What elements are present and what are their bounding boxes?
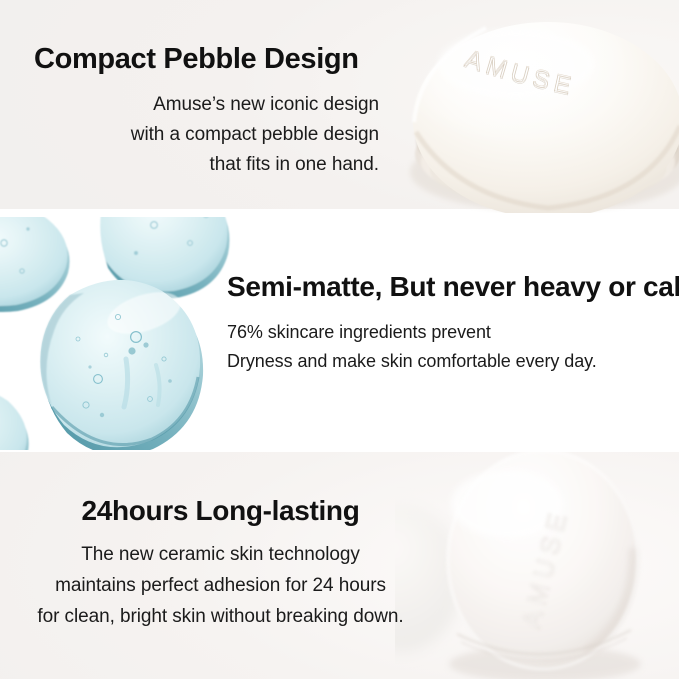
panel-3-body-line: maintains perfect adhesion for 24 hours — [8, 571, 433, 602]
aqua-gel-droplets-photo — [0, 217, 244, 450]
panel-24hours-long-lasting: AMUSE AMUSE 24hours Long-lasting The new… — [0, 452, 679, 679]
product-detail-infographic: AMUSE AMUSE Compact Pebble Design Amuse’… — [0, 0, 679, 679]
amuse-compact-pebble-photo: AMUSE AMUSE — [398, 2, 679, 213]
panel-3-copy: 24hours Long-lasting The new ceramic ski… — [8, 494, 433, 632]
panel-2-headline-line: Semi-matte, — [227, 271, 382, 302]
gel-blob — [0, 388, 29, 450]
panel-2-body-line: Dryness and make skin comfortable every … — [227, 347, 667, 376]
panel-3-body-line: The new ceramic skin technology — [8, 540, 433, 571]
foreground-pebble: AMUSE AMUSE — [447, 452, 639, 670]
gel-blob — [0, 217, 70, 312]
panel-3-body-line: for clean, bright skin without breaking … — [8, 602, 433, 633]
gel-blob-main — [40, 280, 203, 450]
panel-1-body-line: Amuse’s new iconic design — [34, 90, 379, 120]
panel-2-body-line: 76% skincare ingredients prevent — [227, 318, 667, 347]
panel-1-headline: Compact Pebble Design — [34, 42, 379, 76]
panel-semi-matte: Semi-matte, But never heavy or cakey 76%… — [0, 217, 679, 450]
panel-2-headline: Semi-matte, But never heavy or cakey — [227, 270, 667, 303]
panel-2-body: 76% skincare ingredients prevent Dryness… — [227, 318, 667, 377]
amuse-compact-soft-light-photo: AMUSE AMUSE — [395, 452, 679, 679]
panel-2-copy: Semi-matte, But never heavy or cakey 76%… — [227, 270, 667, 377]
panel-1-body-line: that fits in one hand. — [34, 150, 379, 180]
panel-3-body: The new ceramic skin technology maintain… — [8, 540, 433, 632]
panel-1-body-line: with a compact pebble design — [34, 120, 379, 150]
panel-3-headline: 24hours Long-lasting — [8, 494, 433, 527]
panel-1-copy: Compact Pebble Design Amuse’s new iconic… — [34, 42, 379, 180]
panel-2-headline-line: But never heavy or cakey — [389, 271, 679, 302]
panel-compact-pebble-design: AMUSE AMUSE Compact Pebble Design Amuse’… — [0, 0, 679, 213]
panel-1-body: Amuse’s new iconic design with a compact… — [34, 90, 379, 180]
